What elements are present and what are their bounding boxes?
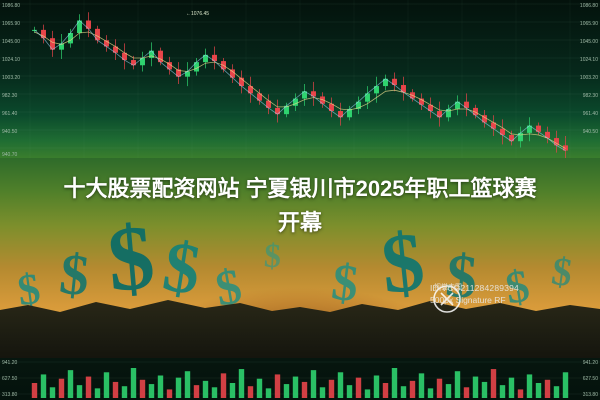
headline-line-2: 开幕 — [0, 206, 600, 240]
headline: 十大股票配资网站 宁夏银川市2025年职工篮球赛 开幕 — [0, 172, 600, 240]
top-right-tick-3: 1024.10 — [580, 57, 598, 63]
top-left-tick-0: 1086.80 — [2, 3, 20, 9]
bottom-right-tick-1: 627.50 — [583, 376, 598, 382]
bottom-right-tick-2: 313.80 — [583, 392, 598, 398]
bottom-left-tick-2: 313.80 — [2, 392, 17, 398]
bottom-volume-chart: 941.20 627.50 313.80 941.20 627.50 313.8… — [0, 358, 600, 400]
top-right-tick-6: 961.40 — [583, 111, 598, 117]
chart-annotation: ←1076.45 — [186, 11, 209, 17]
top-right-tick-4: 1003.20 — [580, 75, 598, 81]
top-left-tick-7: 940.50 — [2, 129, 17, 135]
dollar-sign-2: $ — [57, 245, 92, 306]
top-left-tick-2: 1045.00 — [2, 39, 20, 45]
top-left-tick-1: 1065.90 — [2, 21, 20, 27]
top-right-tick-0: 1086.80 — [580, 3, 598, 9]
top-right-tick-1: 1065.90 — [580, 21, 598, 27]
top-right-tick-5: 982.30 — [583, 93, 598, 99]
bottom-left-tick-1: 627.50 — [2, 376, 17, 382]
headline-line-1: 十大股票配资网站 宁夏银川市2025年职工篮球赛 — [63, 176, 536, 201]
bottom-chart-svg — [0, 358, 600, 400]
screenshot-root: 1086.80 1065.90 1045.00 1024.10 1003.20 … — [0, 0, 600, 400]
top-stock-chart: 1086.80 1065.90 1045.00 1024.10 1003.20 … — [0, 0, 600, 160]
dollar-sign-11: $ — [263, 240, 282, 275]
watermark: ID:VCG211284289394 500px Signature RF — [430, 282, 590, 318]
watermark-id: ID:VCG211284289394 — [430, 282, 590, 294]
top-right-tick-7: 940.50 — [583, 129, 598, 135]
top-right-tick-2: 1045.00 — [580, 39, 598, 45]
bottom-left-tick-0: 941.20 — [2, 360, 17, 366]
top-left-tick-6: 961.40 — [2, 111, 17, 117]
top-left-tick-3: 1024.10 — [2, 57, 20, 63]
bottom-right-tick-0: 941.20 — [583, 360, 598, 366]
watermark-license: 500px Signature RF — [430, 294, 590, 306]
top-left-tick-4: 1003.20 — [2, 75, 20, 81]
top-left-tick-5: 982.30 — [2, 93, 17, 99]
top-chart-svg — [0, 0, 600, 160]
